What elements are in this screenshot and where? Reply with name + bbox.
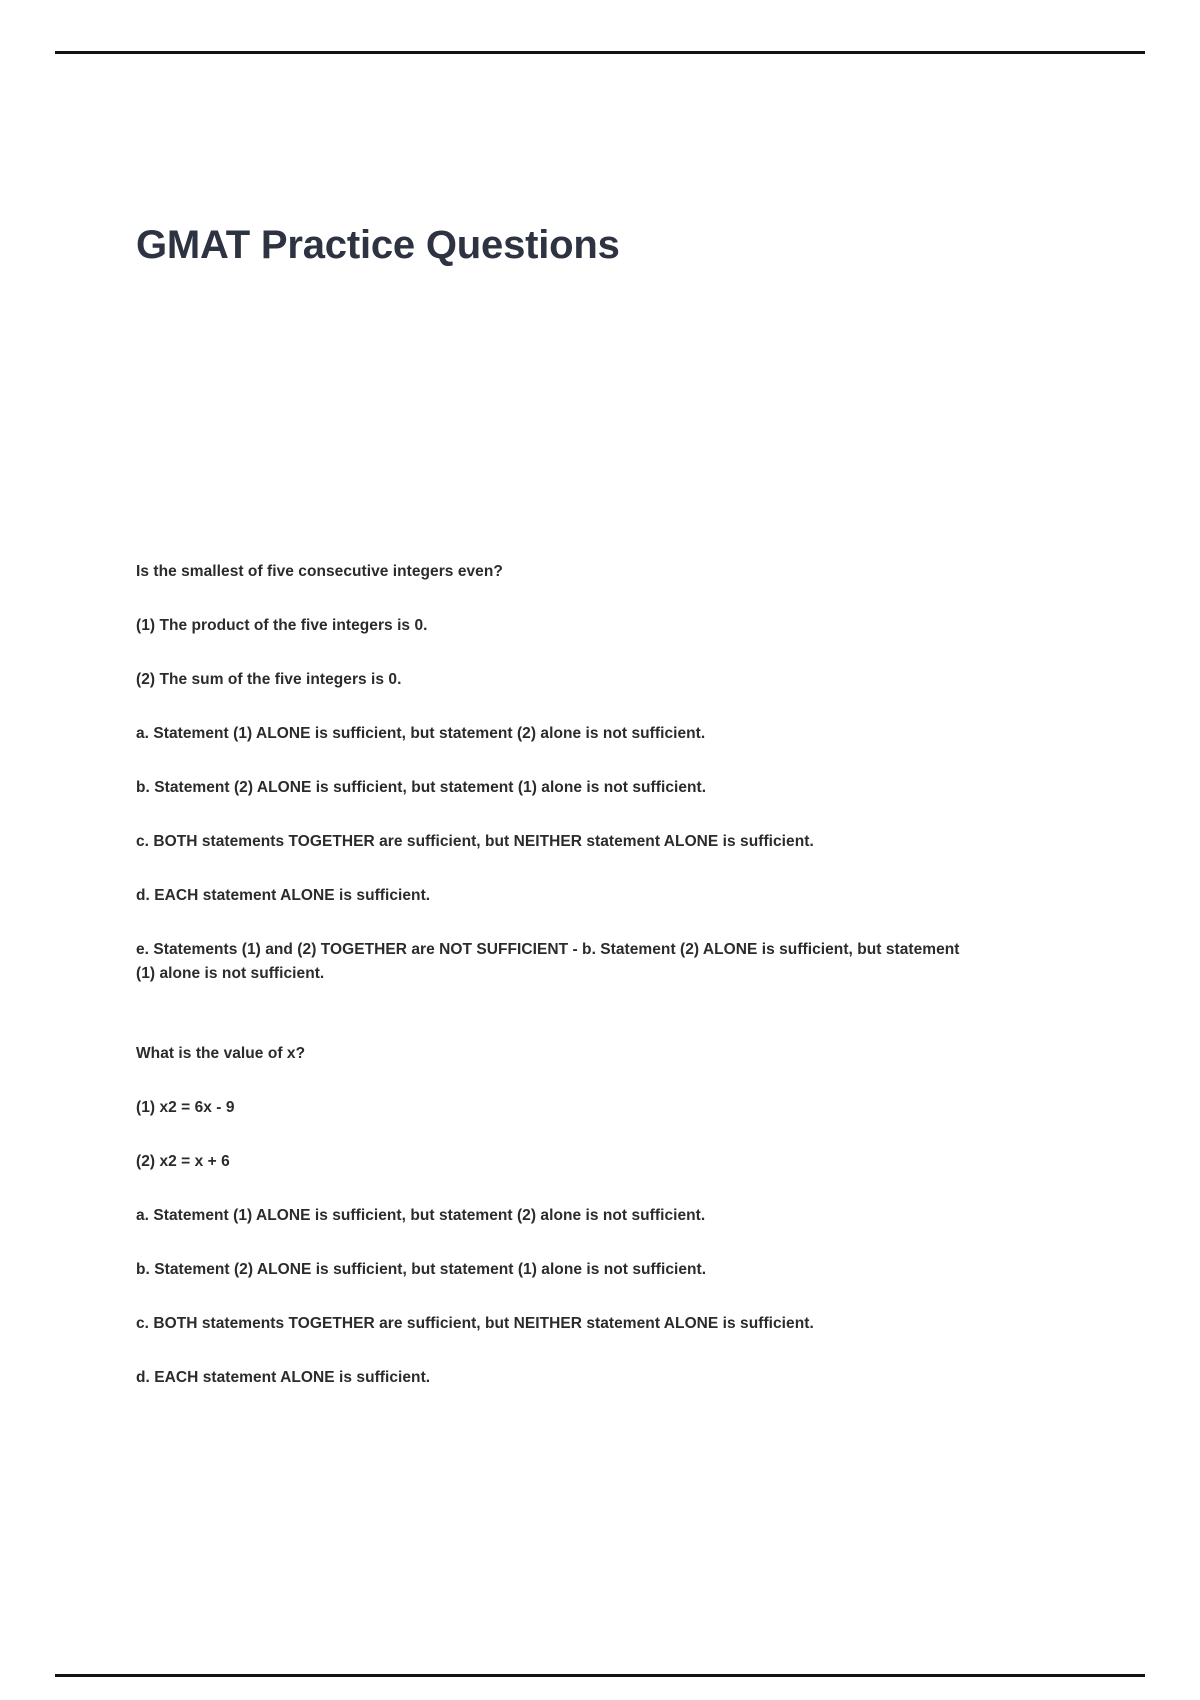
question-block-1: Is the smallest of five consecutive inte… — [136, 560, 966, 985]
answer-option[interactable]: e. Statements (1) and (2) TOGETHER are N… — [136, 938, 964, 985]
answer-option[interactable]: d. EACH statement ALONE is sufficient. — [136, 884, 966, 908]
questions-container: Is the smallest of five consecutive inte… — [136, 560, 966, 1420]
answer-option[interactable]: a. Statement (1) ALONE is sufficient, bu… — [136, 1204, 966, 1228]
answer-option[interactable]: b. Statement (2) ALONE is sufficient, bu… — [136, 776, 966, 800]
answer-option[interactable]: b. Statement (2) ALONE is sufficient, bu… — [136, 1258, 966, 1282]
question-prompt: What is the value of x? — [136, 1042, 966, 1066]
question-block-2: What is the value of x? (1) x2 = 6x - 9 … — [136, 1042, 966, 1390]
answer-option[interactable]: d. EACH statement ALONE is sufficient. — [136, 1366, 966, 1390]
question-prompt: Is the smallest of five consecutive inte… — [136, 560, 966, 584]
question-statement: (1) The product of the five integers is … — [136, 614, 966, 638]
answer-option[interactable]: a. Statement (1) ALONE is sufficient, bu… — [136, 722, 966, 746]
document-page: GMAT Practice Questions Is the smallest … — [0, 0, 1200, 1700]
page-title: GMAT Practice Questions — [136, 222, 620, 268]
question-statement: (1) x2 = 6x - 9 — [136, 1096, 966, 1120]
question-statement: (2) x2 = x + 6 — [136, 1150, 966, 1174]
header-divider — [55, 51, 1145, 54]
answer-option[interactable]: c. BOTH statements TOGETHER are sufficie… — [136, 830, 966, 854]
question-statement: (2) The sum of the five integers is 0. — [136, 668, 966, 692]
footer-divider — [55, 1674, 1145, 1677]
answer-option[interactable]: c. BOTH statements TOGETHER are sufficie… — [136, 1312, 966, 1336]
section-spacer — [136, 1016, 966, 1042]
